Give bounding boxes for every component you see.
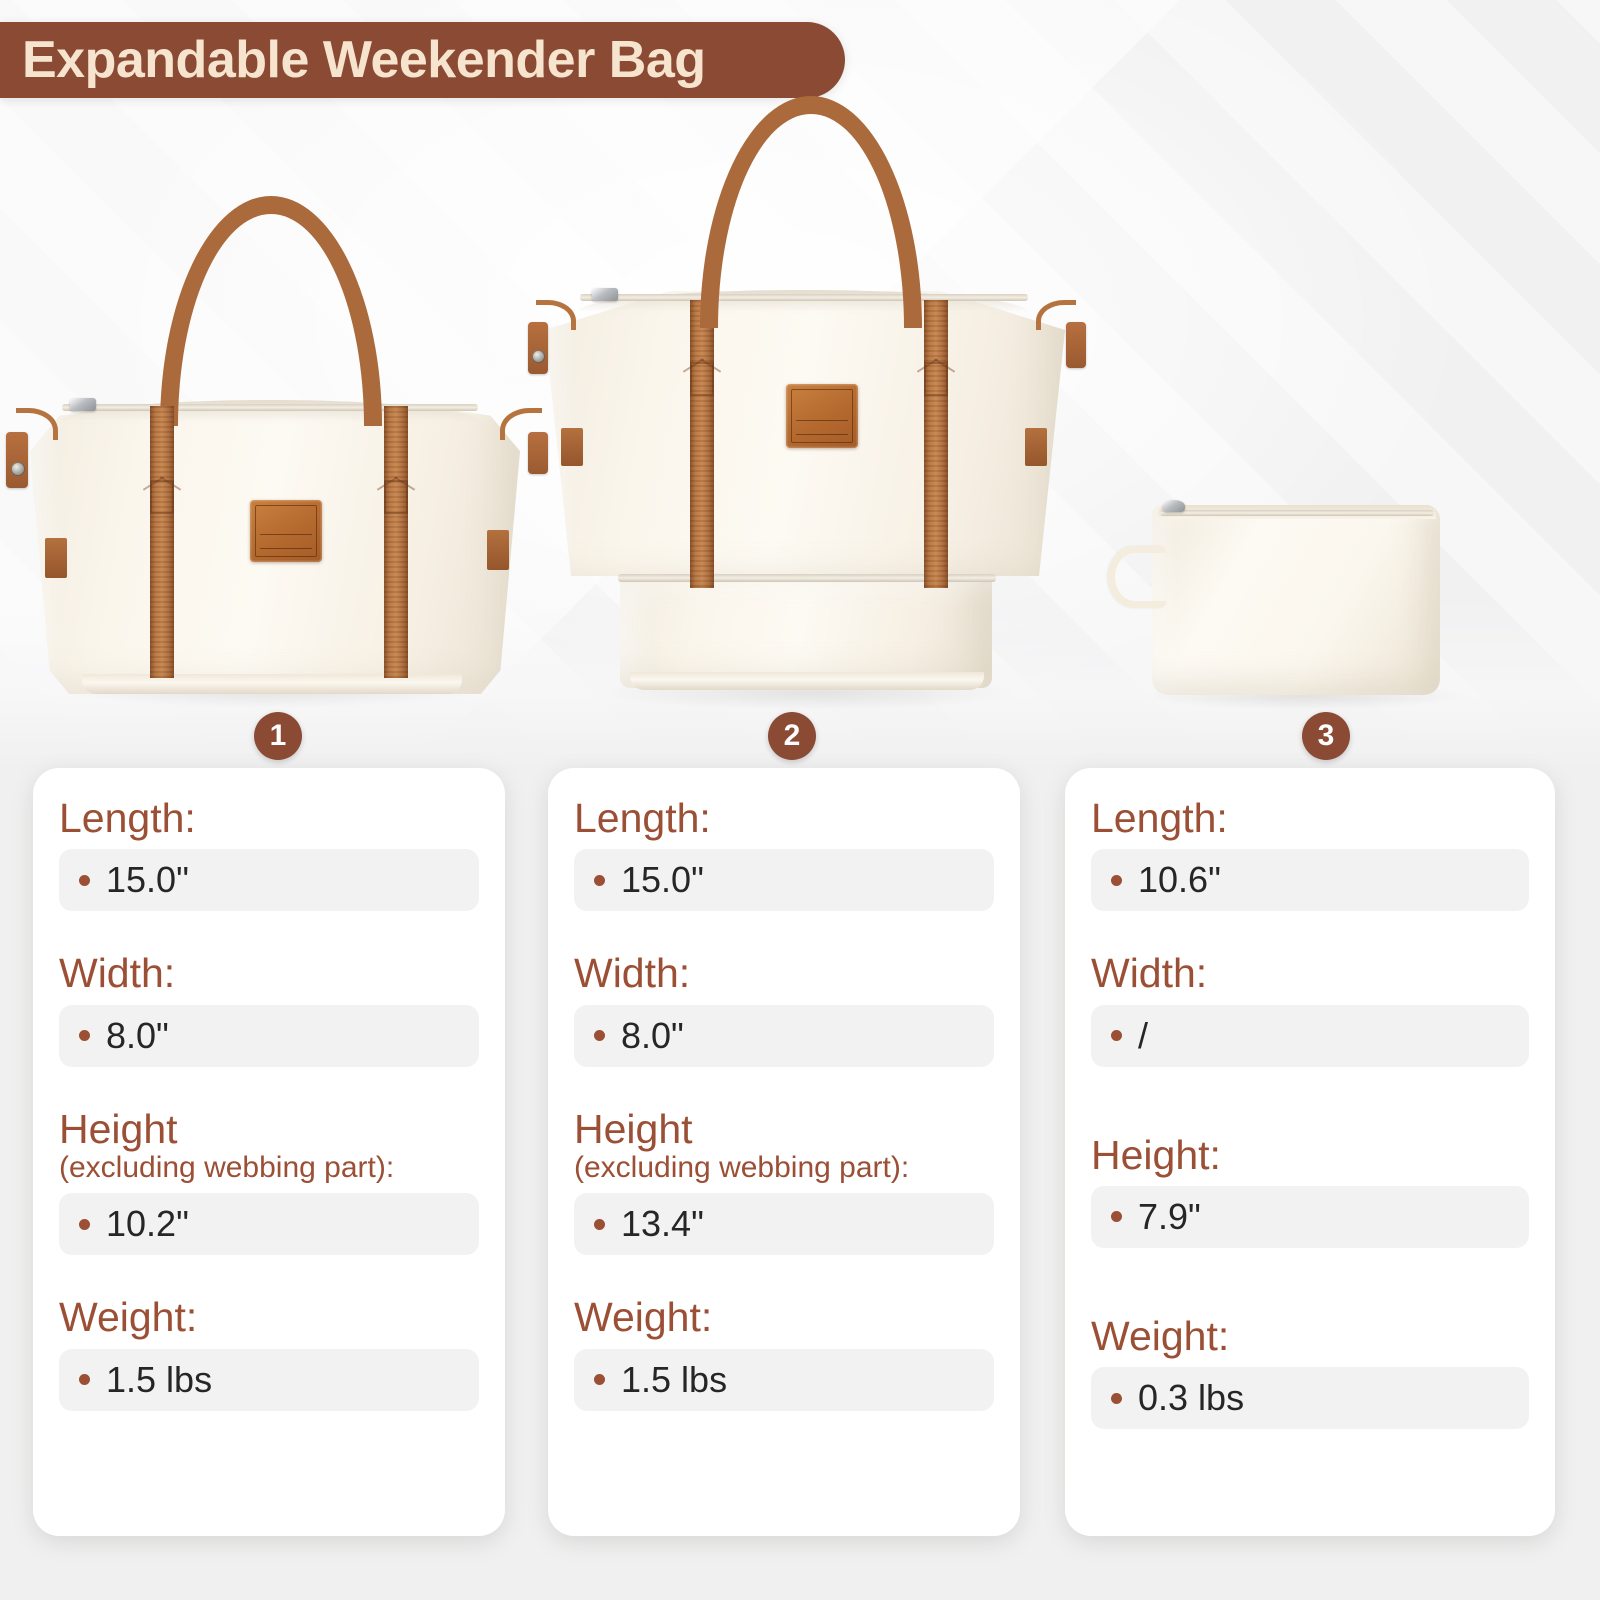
spec-value-length: 15.0" (574, 849, 994, 911)
badge-3: 3 (1302, 712, 1350, 760)
spec-value-width: 8.0" (574, 1005, 994, 1067)
spec-label-length: Length: (574, 796, 994, 840)
spec-label-text: Length: (1091, 795, 1228, 841)
zipper-pull-tab-right (1066, 322, 1086, 368)
spec-value-weight: 1.5 lbs (59, 1349, 479, 1411)
spec-label-text: Height (574, 1106, 693, 1152)
spec-label-weight: Weight: (1091, 1314, 1529, 1358)
strap-left (150, 406, 174, 678)
spec-card-1: Length: 15.0" Width: 8.0" Height (exclud… (33, 768, 505, 1536)
side-tab-left (561, 428, 583, 466)
spec-label-weight: Weight: (59, 1295, 479, 1339)
pouch-body (1152, 505, 1440, 695)
zipper-slider-icon (1163, 500, 1185, 512)
spec-label-height: Height (excluding webbing part): (59, 1107, 479, 1185)
bullet-icon (79, 875, 90, 886)
page-title: Expandable Weekender Bag (22, 34, 706, 86)
x-stitch-left (690, 362, 714, 396)
spec-value-width: 8.0" (59, 1005, 479, 1067)
spec-value-text: 1.5 lbs (621, 1359, 727, 1401)
spec-value-text: 15.0" (621, 859, 704, 901)
patch-line (796, 434, 848, 435)
x-stitch-right (924, 362, 948, 396)
spec-value-text: 10.6" (1138, 859, 1221, 901)
spec-label-text: Width: (1091, 950, 1207, 996)
spec-value-length: 10.6" (1091, 849, 1529, 911)
spec-label-text: Weight: (574, 1294, 712, 1340)
side-tab-right (1025, 428, 1047, 466)
spec-label-length: Length: (1091, 796, 1529, 840)
zipper-slider-icon (592, 288, 618, 301)
side-tab-right (487, 530, 509, 570)
spec-label-sublabel: (excluding webbing part): (574, 1151, 994, 1185)
badge-1: 1 (254, 712, 302, 760)
spec-value-text: 15.0" (106, 859, 189, 901)
spec-card-2: Length: 15.0" Width: 8.0" Height (exclud… (548, 768, 1020, 1536)
spec-label-text: Width: (59, 950, 175, 996)
bullet-icon (79, 1374, 90, 1385)
strap-right (384, 406, 408, 678)
spec-label-weight: Weight: (574, 1295, 994, 1339)
bullet-icon (1111, 875, 1122, 886)
zipper-pull-tab (6, 432, 28, 488)
spec-label-height: Height: (1091, 1133, 1529, 1177)
zipper-pull-tab-right (528, 432, 548, 474)
patch-border (255, 505, 317, 557)
bullet-icon (1111, 1393, 1122, 1404)
title-banner: Expandable Weekender Bag (0, 22, 845, 98)
strap-right (924, 300, 948, 588)
spec-value-weight: 1.5 lbs (574, 1349, 994, 1411)
patch-line (260, 548, 312, 549)
bullet-icon (594, 1030, 605, 1041)
side-tab-left (45, 538, 67, 578)
spec-label-width: Width: (1091, 951, 1529, 995)
patch-line (796, 420, 848, 421)
spec-value-height: 13.4" (574, 1193, 994, 1255)
spec-label-height: Height (excluding webbing part): (574, 1107, 994, 1185)
spec-value-text: 1.5 lbs (106, 1359, 212, 1401)
spec-label-width: Width: (574, 951, 994, 995)
patch-line (260, 534, 312, 535)
bag-base (630, 672, 984, 690)
spec-label-text: Weight: (1091, 1313, 1229, 1359)
leather-logo-patch (786, 384, 858, 448)
spec-label-text: Length: (574, 795, 711, 841)
spec-label-text: Weight: (59, 1294, 197, 1340)
spec-value-text: 8.0" (621, 1015, 684, 1057)
spec-card-3: Length: 10.6" Width: / Height: 7.9" Weig… (1065, 768, 1555, 1536)
wrist-strap-loop (1108, 546, 1166, 608)
spec-value-width: / (1091, 1005, 1529, 1067)
spec-label-length: Length: (59, 796, 479, 840)
zipper-pull-tab (528, 322, 548, 374)
spec-value-height: 10.2" (59, 1193, 479, 1255)
spec-value-weight: 0.3 lbs (1091, 1367, 1529, 1429)
spec-label-sublabel: (excluding webbing part): (59, 1151, 479, 1185)
x-stitch-right (384, 480, 408, 514)
grommet-icon (532, 350, 545, 363)
spec-label-text: Width: (574, 950, 690, 996)
spec-value-text: 0.3 lbs (1138, 1377, 1244, 1419)
zipper-seam (1160, 510, 1434, 516)
spec-label-text: Height: (1091, 1132, 1221, 1178)
bullet-icon (1111, 1030, 1122, 1041)
spec-value-height: 7.9" (1091, 1186, 1529, 1248)
strap-left (690, 300, 714, 588)
bullet-icon (594, 875, 605, 886)
spec-label-text: Length: (59, 795, 196, 841)
spec-value-text: 8.0" (106, 1015, 169, 1057)
spec-value-text: 13.4" (621, 1203, 704, 1245)
spec-label-text: Height (59, 1106, 178, 1152)
spec-label-width: Width: (59, 951, 479, 995)
spec-value-text: 10.2" (106, 1203, 189, 1245)
bullet-icon (79, 1030, 90, 1041)
bullet-icon (1111, 1211, 1122, 1222)
bullet-icon (79, 1219, 90, 1230)
spec-value-length: 15.0" (59, 849, 479, 911)
zipper-slider-icon (70, 398, 96, 411)
bullet-icon (594, 1374, 605, 1385)
infographic-stage: 1 2 3 Length: 15.0" Width: 8.0" Height (… (0, 0, 1600, 1600)
leather-logo-patch (250, 500, 322, 562)
bullet-icon (594, 1219, 605, 1230)
badge-2: 2 (768, 712, 816, 760)
grommet-icon (11, 462, 25, 476)
x-stitch-left (150, 480, 174, 514)
spec-value-text: / (1138, 1015, 1148, 1057)
spec-value-text: 7.9" (1138, 1196, 1201, 1238)
